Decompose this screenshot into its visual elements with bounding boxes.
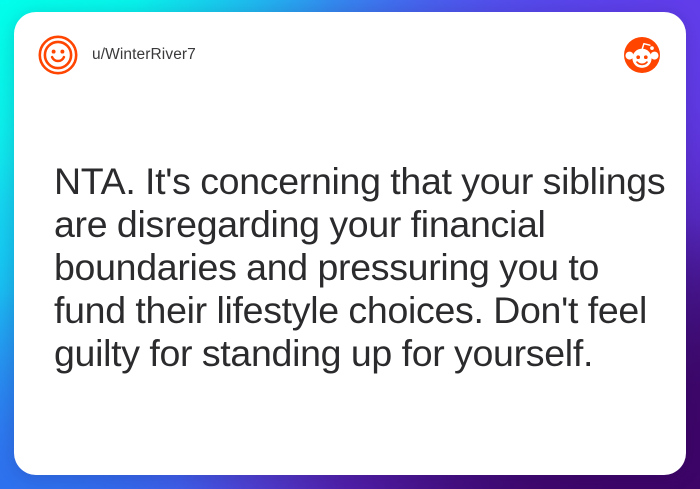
reddit-snoo-icon[interactable]: [624, 37, 660, 73]
reddit-post-card: u/WinterRiver7 NTA. It's concerning that…: [14, 12, 686, 475]
smiley-face-avatar-icon[interactable]: [38, 35, 78, 75]
post-header: u/WinterRiver7: [14, 12, 686, 98]
username-label: u/WinterRiver7: [92, 46, 196, 64]
post-body-text: NTA. It's concerning that your siblings …: [54, 160, 670, 375]
screenshot-stage: u/WinterRiver7 NTA. It's concerning that…: [0, 0, 700, 489]
